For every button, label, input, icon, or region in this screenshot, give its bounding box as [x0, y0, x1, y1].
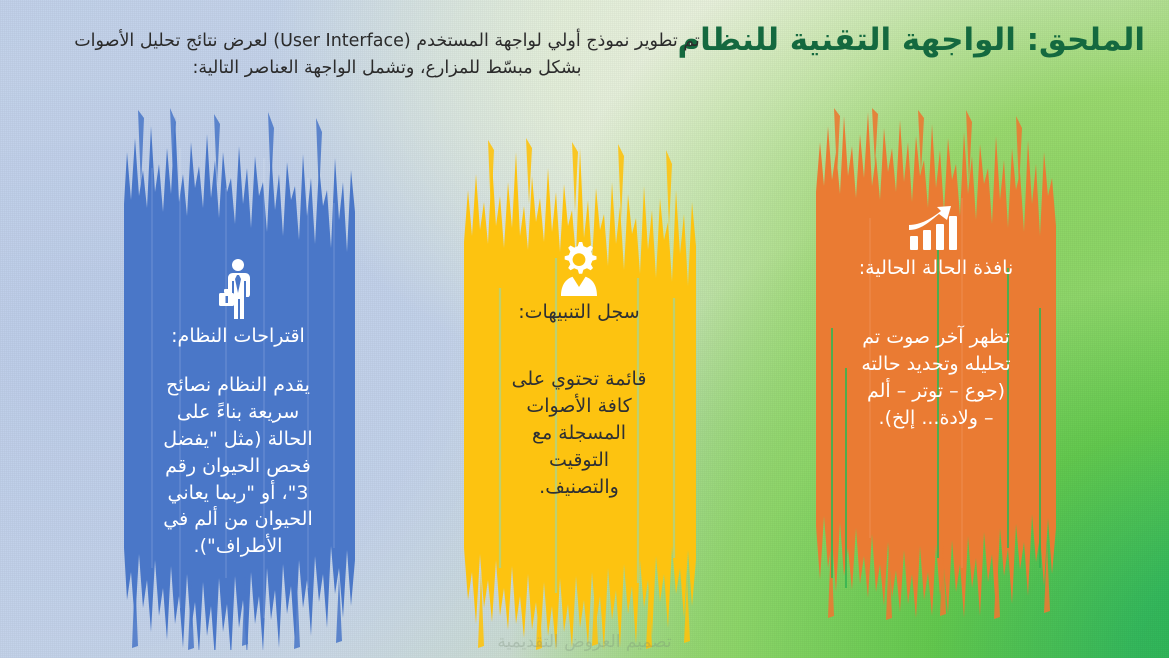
panel-alerts[interactable]: سجل التنبيهات: قائمة تحتوي على كافة الأص… — [460, 138, 698, 650]
panel-alerts-content: سجل التنبيهات: قائمة تحتوي على كافة الأص… — [460, 240, 698, 500]
gear-head-person-icon — [460, 240, 698, 300]
panel-suggestions[interactable]: اقتراحات النظام: يقدم النظام نصائح سريعة… — [118, 108, 358, 650]
panel-status-body: تظهر آخر صوت تم تحليله وتحديد حالته (جوع… — [861, 324, 1011, 432]
panel-suggestions-content: اقتراحات النظام: يقدم النظام نصائح سريعة… — [118, 258, 358, 560]
businessman-briefcase-icon — [118, 258, 358, 324]
panel-alerts-heading: سجل التنبيهات: — [460, 300, 698, 326]
panel-status-content: نافذة الحالة الحالية: تظهر آخر صوت تم تح… — [812, 206, 1060, 432]
panel-status-heading: نافذة الحالة الحالية: — [812, 256, 1060, 282]
panel-suggestions-heading: اقتراحات النظام: — [118, 324, 358, 350]
page-subtitle: تم تطوير نموذج أولي لواجهة المستخدم (Use… — [57, 28, 717, 81]
page-title: الملحق: الواجهة التقنية للنظام — [725, 22, 1145, 60]
panel-alerts-body: قائمة تحتوي على كافة الأصوات المسجلة مع … — [509, 366, 649, 501]
panel-suggestions-body: يقدم النظام نصائح سريعة بناءً على الحالة… — [159, 372, 317, 561]
panel-status[interactable]: نافذة الحالة الحالية: تظهر آخر صوت تم تح… — [812, 108, 1060, 620]
slide-canvas: الملحق: الواجهة التقنية للنظام تم تطوير … — [0, 0, 1169, 658]
growth-bar-chart-arrow-icon — [812, 206, 1060, 256]
